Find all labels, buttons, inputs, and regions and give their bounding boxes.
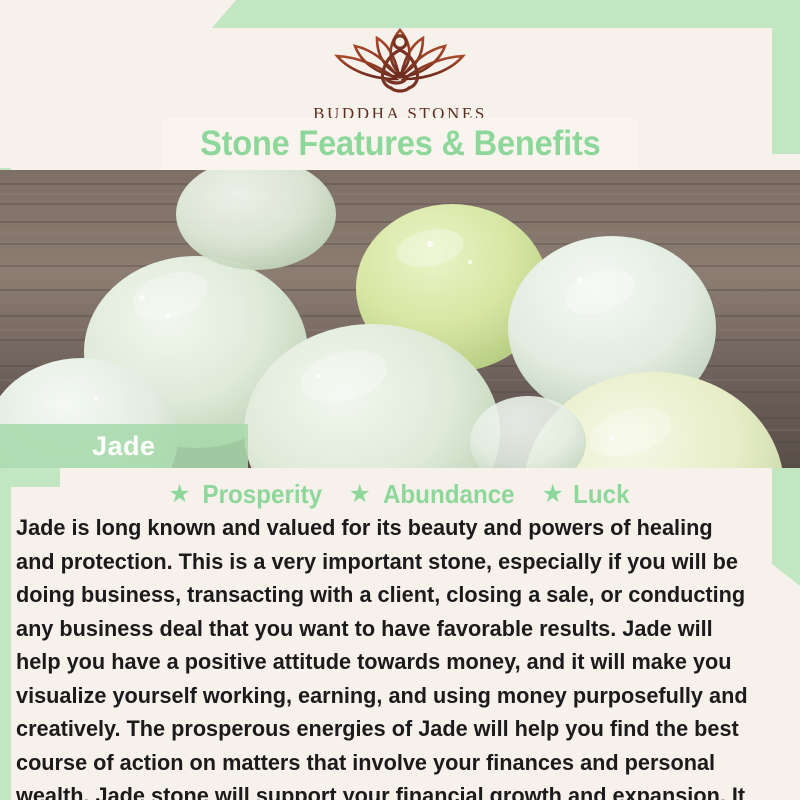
keyword-luck: ★ Luck [541,479,631,510]
page-title: Stone Features & Benefits [200,124,601,164]
keyword-prosperity: ★ Prosperity [168,479,326,510]
lotus-meditation-icon [325,22,475,100]
stone-description: Jade is long known and valued for its be… [16,511,757,800]
title-banner: Stone Features & Benefits [163,118,637,170]
keyword-label: Abundance [383,479,515,510]
keyword-label: Prosperity [202,479,322,510]
poster-canvas: BUDDHA STONES Stone Features & Benefits [0,0,800,800]
star-icon: ★ [348,482,370,507]
stone-name-label: Jade [92,431,156,462]
star-icon: ★ [168,482,190,507]
keyword-abundance: ★ Abundance [348,479,519,510]
keyword-row: ★ Prosperity ★ Abundance ★ Luck [0,479,800,510]
brand-logo: BUDDHA STONES [0,22,800,124]
star-icon: ★ [541,482,563,507]
stone-name-band: Jade [0,424,248,468]
keyword-label: Luck [573,479,629,510]
